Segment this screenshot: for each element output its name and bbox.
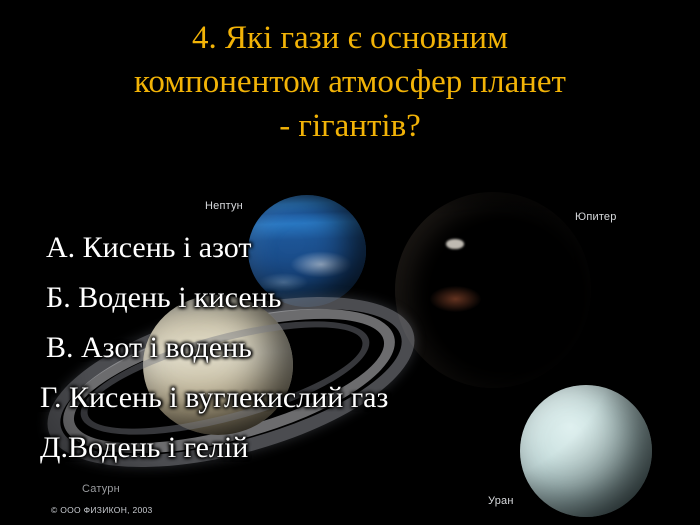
answer-option-v[interactable]: В. Азот і водень [0, 323, 700, 373]
answer-option-d[interactable]: Д.Водень і гелій [0, 423, 700, 473]
answer-options-list: А. Кисень і азот Б. Водень і кисень В. А… [0, 223, 700, 473]
answer-option-a[interactable]: А. Кисень і азот [0, 223, 700, 273]
answer-option-b[interactable]: Б. Водень і кисень [0, 273, 700, 323]
question-title: 4. Які гази є основним компонентом атмос… [0, 16, 700, 148]
quiz-slide: Нептун Юпитер Сатурн Уран © ООО ФИЗИКОН,… [0, 0, 700, 525]
planet-label-uranus: Уран [488, 495, 514, 507]
planet-label-saturn: Сатурн [82, 483, 120, 495]
planet-label-jupiter: Юпитер [575, 211, 617, 223]
planet-label-neptune: Нептун [205, 200, 243, 212]
answer-option-g[interactable]: Г. Кисень і вуглекислий газ [0, 373, 700, 423]
photo-copyright: © ООО ФИЗИКОН, 2003 [51, 505, 153, 515]
